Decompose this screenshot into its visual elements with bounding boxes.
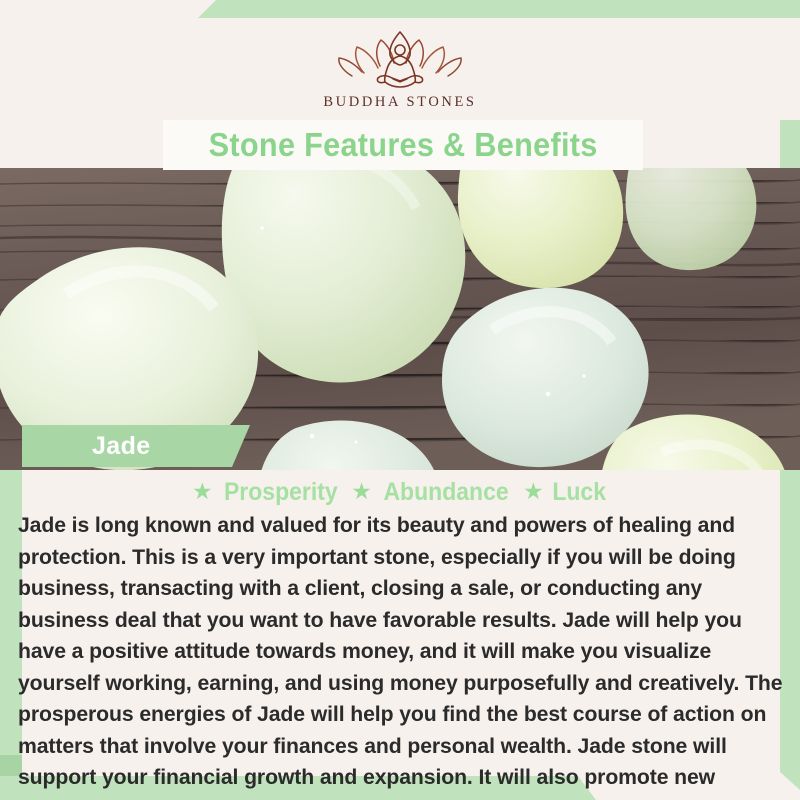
decor-top-green-band (0, 0, 800, 18)
lotus-meditation-icon (334, 28, 466, 90)
page-title-band: Stone Features & Benefits (163, 120, 643, 170)
stone-description-text: Jade is long known and valued for its be… (18, 510, 788, 800)
benefit-label: Prosperity (224, 478, 338, 507)
benefit-label: Abundance (383, 478, 508, 507)
stone-photo (0, 168, 800, 470)
star-icon: ★ (192, 480, 213, 503)
benefit-item-abundance: ★ Abundance (351, 478, 514, 507)
page-title: Stone Features & Benefits (208, 126, 597, 164)
stone-info-card: BUDDHA STONES (0, 0, 800, 800)
brand-wordmark: BUDDHA STONES (323, 94, 476, 111)
star-icon: ★ (351, 480, 372, 503)
stone-name-badge: Jade (22, 425, 250, 467)
stone-name: Jade (92, 432, 151, 461)
benefit-item-prosperity: ★ Prosperity (192, 478, 342, 507)
benefit-label: Luck (552, 478, 606, 507)
brand-header: BUDDHA STONES (0, 18, 800, 120)
star-icon: ★ (523, 480, 544, 503)
benefit-item-luck: ★ Luck (523, 478, 608, 507)
stone-description: Jade is long known and valued for its be… (18, 510, 788, 800)
benefits-list: ★ Prosperity ★ Abundance ★ Luck (0, 478, 800, 507)
